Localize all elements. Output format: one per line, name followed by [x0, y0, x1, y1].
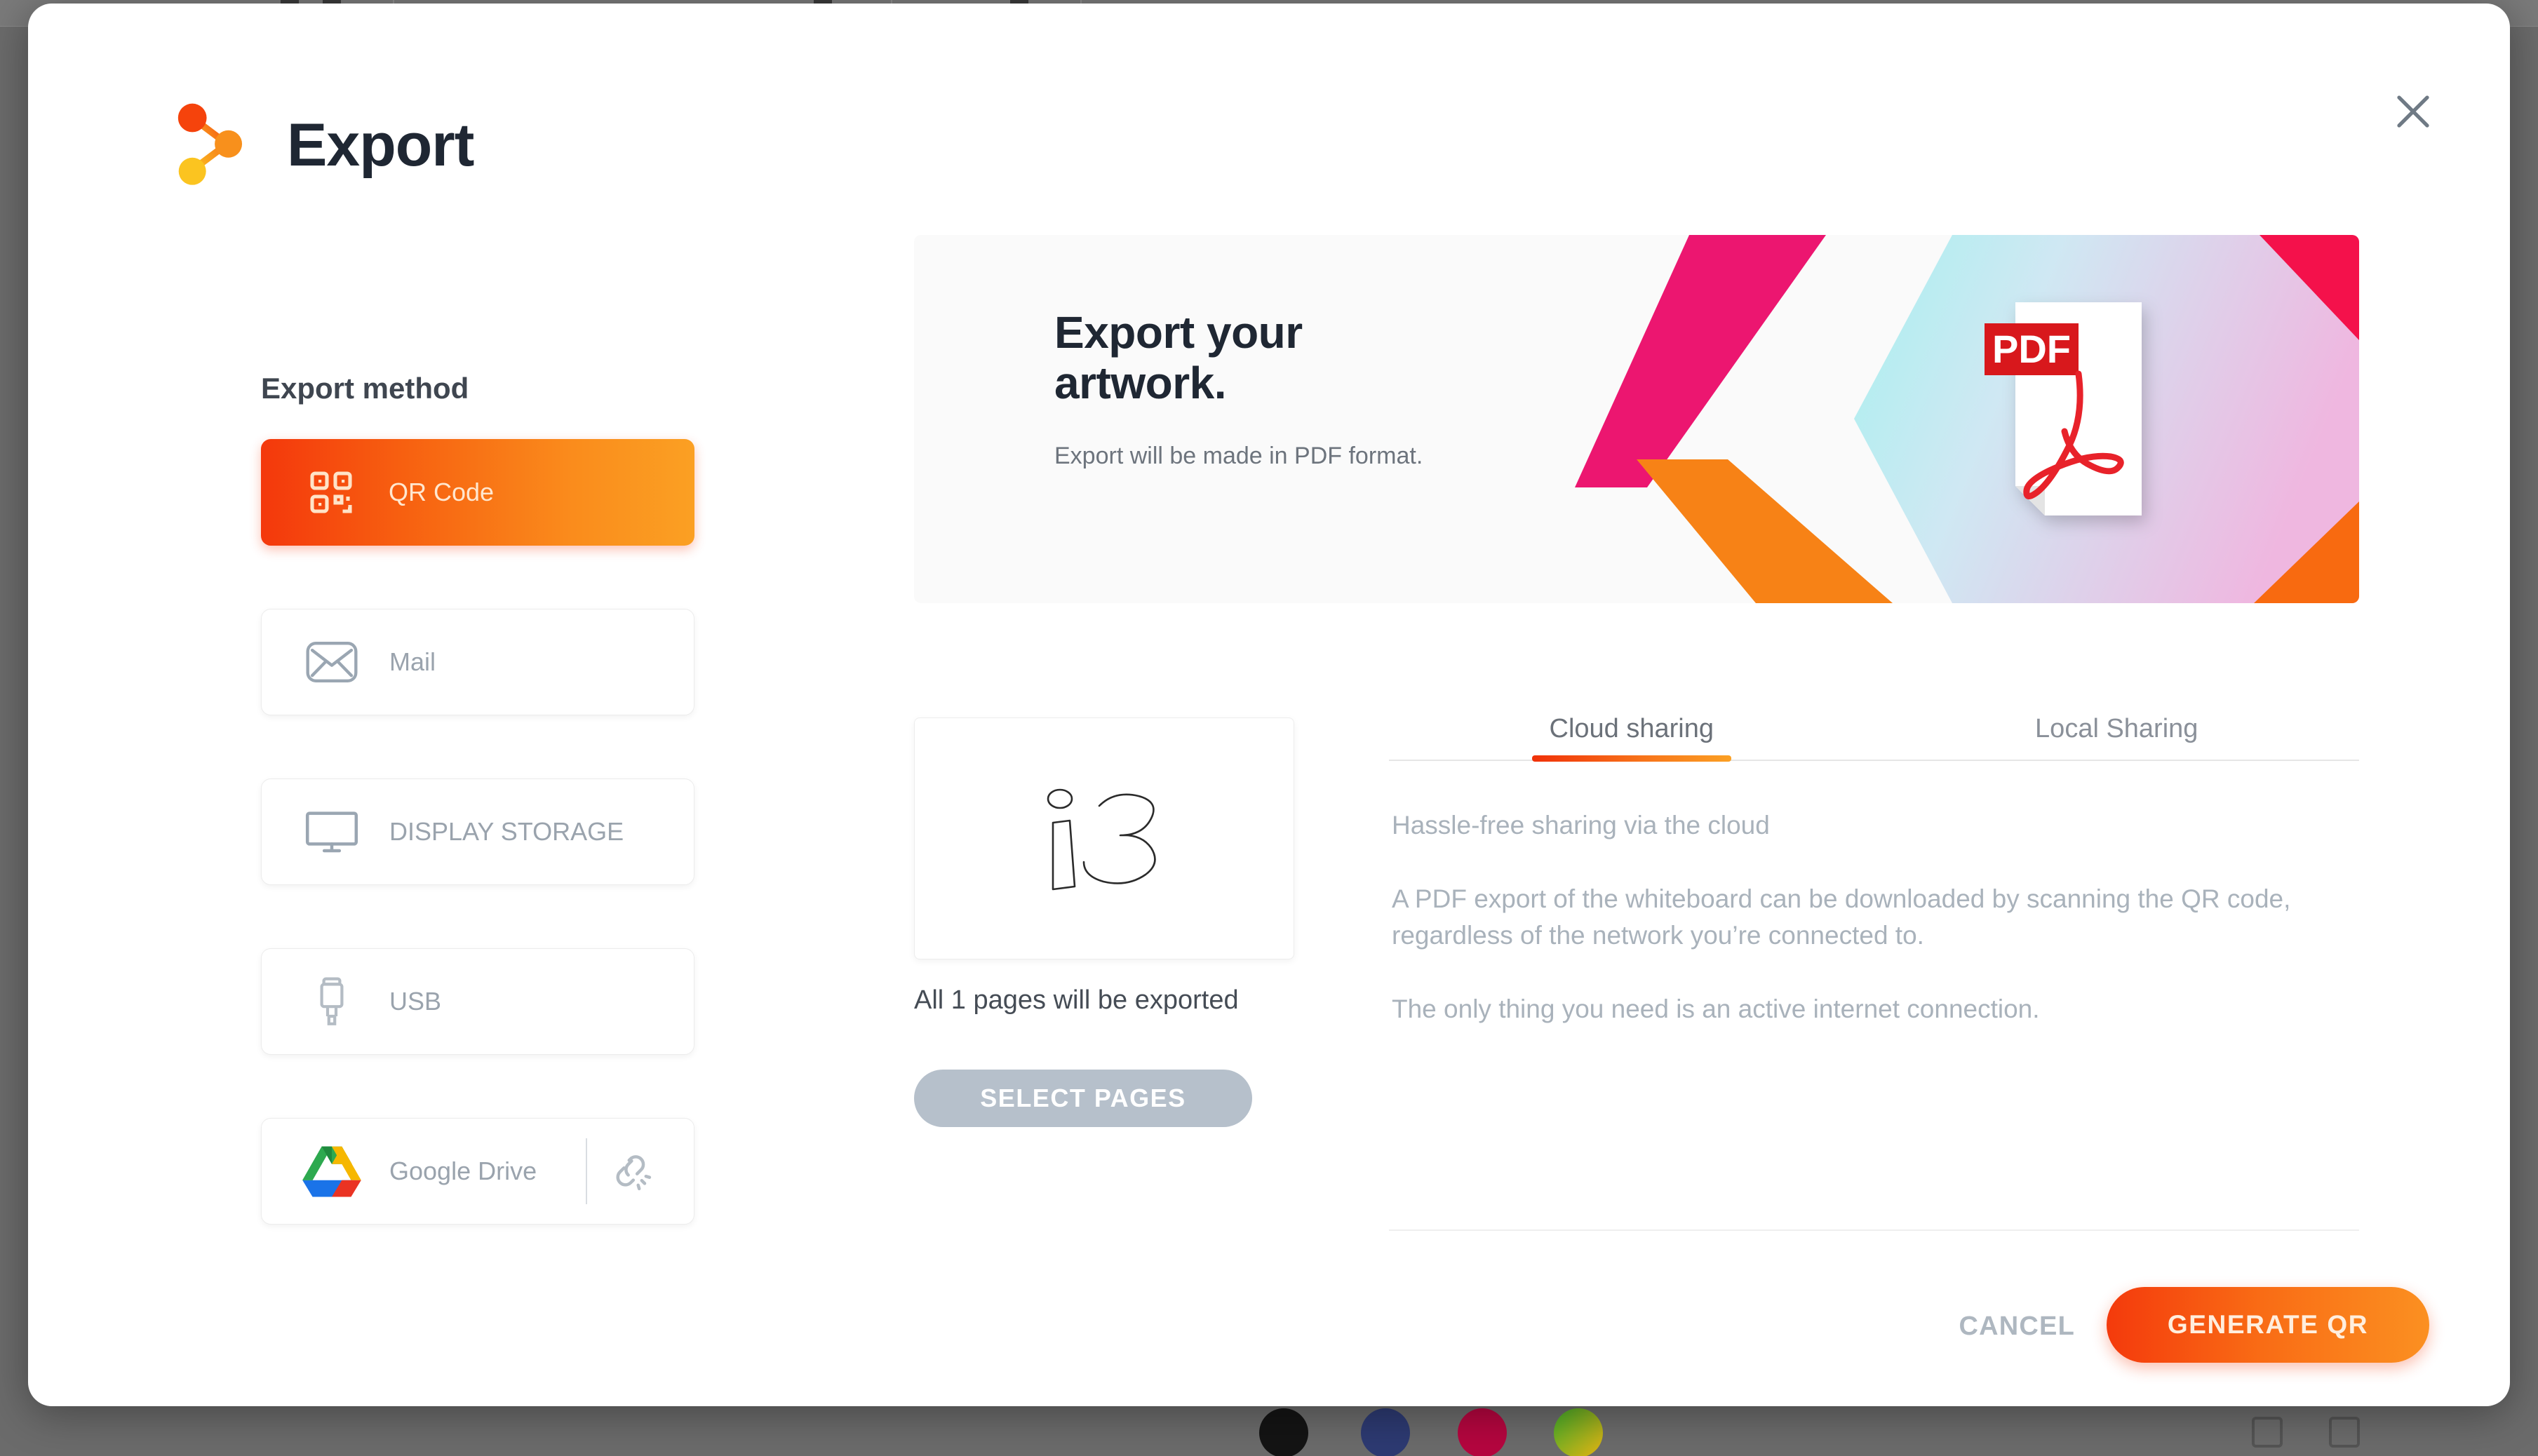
- background-icon: [2252, 1417, 2283, 1448]
- sidebar-item-google-drive[interactable]: Google Drive: [261, 1118, 694, 1225]
- sidebar-item-usb[interactable]: USB: [261, 948, 694, 1055]
- broken-link-button[interactable]: [598, 1119, 666, 1224]
- banner-text: Export your artwork. Export will be made…: [1054, 308, 1447, 473]
- export-banner: Export your artwork. Export will be made…: [914, 235, 2359, 603]
- sharing-description: Hassle-free sharing via the cloud A PDF …: [1389, 761, 2359, 1027]
- sidebar-item-display-storage[interactable]: DISPLAY STORAGE: [261, 778, 694, 885]
- color-swatch: [1259, 1408, 1308, 1456]
- share-nodes-icon: [172, 102, 248, 189]
- usb-plug-icon: [290, 974, 374, 1029]
- sharing-paragraph: The only thing you need is an active int…: [1392, 991, 2356, 1028]
- sharing-tabs: Cloud sharing Local Sharing: [1389, 714, 2359, 761]
- monitor-icon: [290, 809, 374, 855]
- panel-divider: [1389, 1229, 2359, 1231]
- dialog-header: Export: [172, 102, 474, 189]
- tab-cloud-sharing[interactable]: Cloud sharing: [1389, 714, 1874, 761]
- select-pages-button[interactable]: SELECT PAGES: [914, 1070, 1252, 1127]
- color-swatch: [1361, 1408, 1410, 1456]
- export-method-sidebar: Export method QR Code: [261, 372, 696, 1225]
- google-drive-icon: [290, 1144, 374, 1199]
- sidebar-item-qr-code[interactable]: QR Code: [261, 439, 694, 546]
- pages-note: All 1 pages will be exported: [914, 985, 1239, 1016]
- qr-code-icon: [289, 467, 373, 518]
- sharing-paragraph: Hassle-free sharing via the cloud: [1392, 807, 2356, 844]
- generate-qr-button[interactable]: GENERATE QR: [2107, 1287, 2429, 1363]
- sidebar-item-label: Google Drive: [389, 1157, 537, 1186]
- close-icon: [2392, 90, 2434, 133]
- color-swatch: [1458, 1408, 1507, 1456]
- sharing-paragraph: A PDF export of the whiteboard can be do…: [1392, 881, 2356, 955]
- sidebar-item-mail[interactable]: Mail: [261, 609, 694, 715]
- sharing-panel: Cloud sharing Local Sharing Hassle-free …: [1389, 714, 2359, 1027]
- banner-artwork: PDF: [1524, 235, 2359, 603]
- banner-title: Export your artwork.: [1054, 308, 1447, 408]
- sidebar-item-label: DISPLAY STORAGE: [389, 817, 624, 847]
- tab-local-sharing[interactable]: Local Sharing: [1874, 714, 2360, 761]
- export-method-heading: Export method: [261, 372, 696, 405]
- color-swatch: [1554, 1408, 1603, 1456]
- export-dialog: Export Export method QR Code: [28, 4, 2510, 1406]
- cancel-button[interactable]: CANCEL: [1959, 1312, 2075, 1342]
- sidebar-item-label: USB: [389, 987, 441, 1016]
- broken-link-icon: [607, 1146, 657, 1197]
- page-preview-thumbnail[interactable]: [914, 717, 1294, 959]
- banner-subtitle: Export will be made in PDF format.: [1054, 440, 1447, 473]
- sidebar-item-label: QR Code: [389, 478, 494, 507]
- close-button[interactable]: [2381, 79, 2445, 144]
- background-icon: [2329, 1417, 2360, 1448]
- page-title: Export: [287, 111, 474, 180]
- handwritten-i3-sketch: [1009, 758, 1199, 919]
- vertical-divider: [586, 1138, 587, 1204]
- pdf-label: PDF: [1992, 327, 2071, 371]
- envelope-icon: [290, 640, 374, 685]
- sidebar-item-label: Mail: [389, 647, 436, 677]
